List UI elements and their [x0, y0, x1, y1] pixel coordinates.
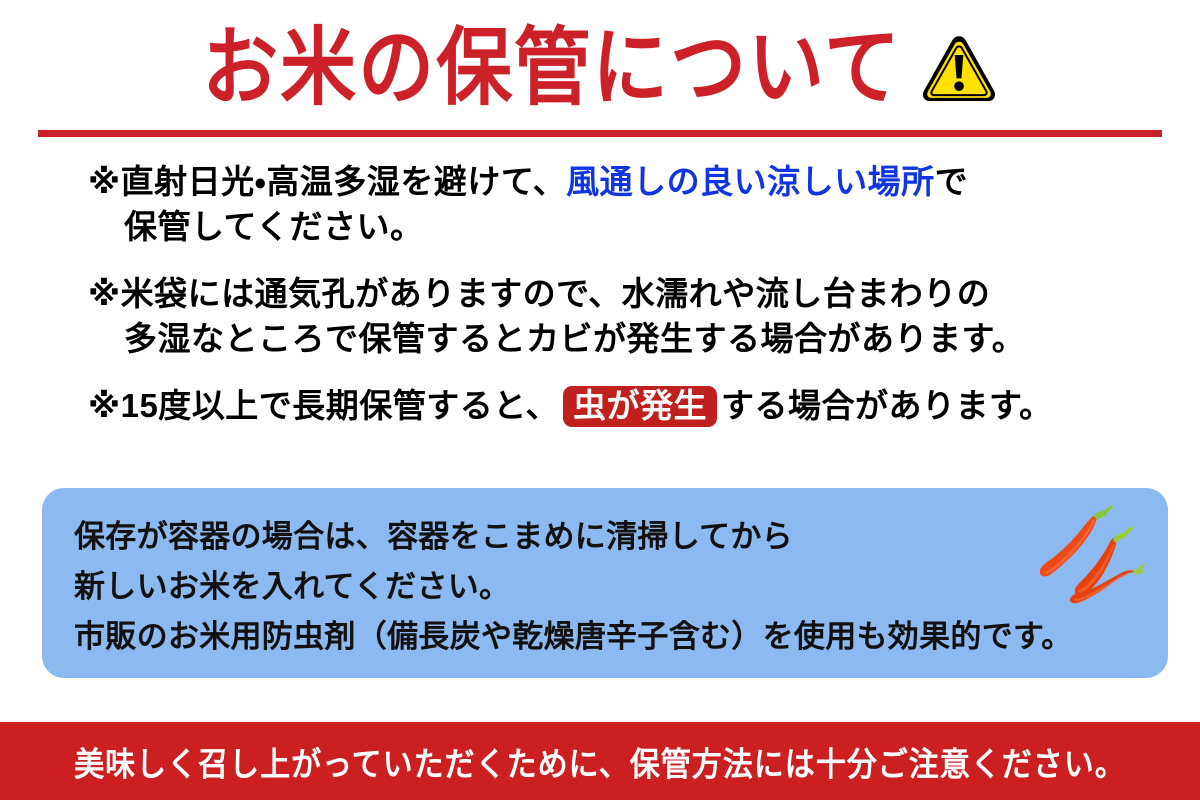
info-panel: 保存が容器の場合は、容器をこまめに清掃してから 新しいお米を入れてください。 市…: [42, 488, 1168, 678]
bullet-text-line2: 多湿なところで保管するとカビが発生する場合があります。: [88, 317, 1168, 362]
page-title: お米の保管について: [202, 26, 902, 111]
panel-line-3: 市販のお米用防虫剤（備長炭や乾燥唐辛子含む）を使用も効果的です。: [74, 612, 1138, 662]
highlight-red-box: 虫が発生: [563, 386, 717, 427]
bullet-marker: ※: [88, 387, 121, 424]
bullet-text-pre: 米袋には通気孔がありますので、水濡れや流し台まわりの: [121, 275, 991, 312]
bullet-text-post: で: [935, 163, 969, 200]
warning-triangle-icon: [920, 33, 998, 105]
title-divider: [38, 130, 1162, 137]
bullet-item-3: ※15度以上で長期保管すると、虫が発生する場合があります。: [88, 384, 1168, 429]
footer-banner: 美味しく召し上がっていただくために、保管方法には十分ご注意ください。: [0, 722, 1200, 800]
highlight-blue-text: 風通しの良い涼しい場所: [566, 163, 935, 200]
bullet-text-post: する場合があります。: [721, 387, 1053, 424]
chili-pepper-icon: [1024, 500, 1146, 618]
bullet-item-2: ※米袋には通気孔がありますので、水濡れや流し台まわりの 多湿なところで保管すると…: [88, 272, 1168, 362]
title-row: お米の保管について: [0, 14, 1200, 124]
bullet-text-line2: 保管してください。: [88, 205, 1168, 250]
bullet-marker: ※: [88, 275, 121, 312]
panel-line-2: 新しいお米を入れてください。: [74, 562, 1138, 612]
bullet-item-1: ※直射日光・高温多湿を避けて、風通しの良い涼しい場所で 保管してください。: [88, 160, 1168, 250]
panel-line-1: 保存が容器の場合は、容器をこまめに清掃してから: [74, 512, 1138, 562]
bullet-text-pre: 15度以上で長期保管すると、: [121, 387, 559, 424]
bullet-list: ※直射日光・高温多湿を避けて、風通しの良い涼しい場所で 保管してください。 ※米…: [88, 160, 1168, 450]
bullet-text-pre: 直射日光・高温多湿を避けて、: [121, 163, 567, 200]
bullet-marker: ※: [88, 163, 121, 200]
rice-storage-poster: お米の保管について ※直射日光・高温多湿を避けて、風通しの良い涼しい場所で 保管…: [0, 0, 1200, 800]
footer-text: 美味しく召し上がっていただくために、保管方法には十分ご注意ください。: [74, 737, 1126, 785]
